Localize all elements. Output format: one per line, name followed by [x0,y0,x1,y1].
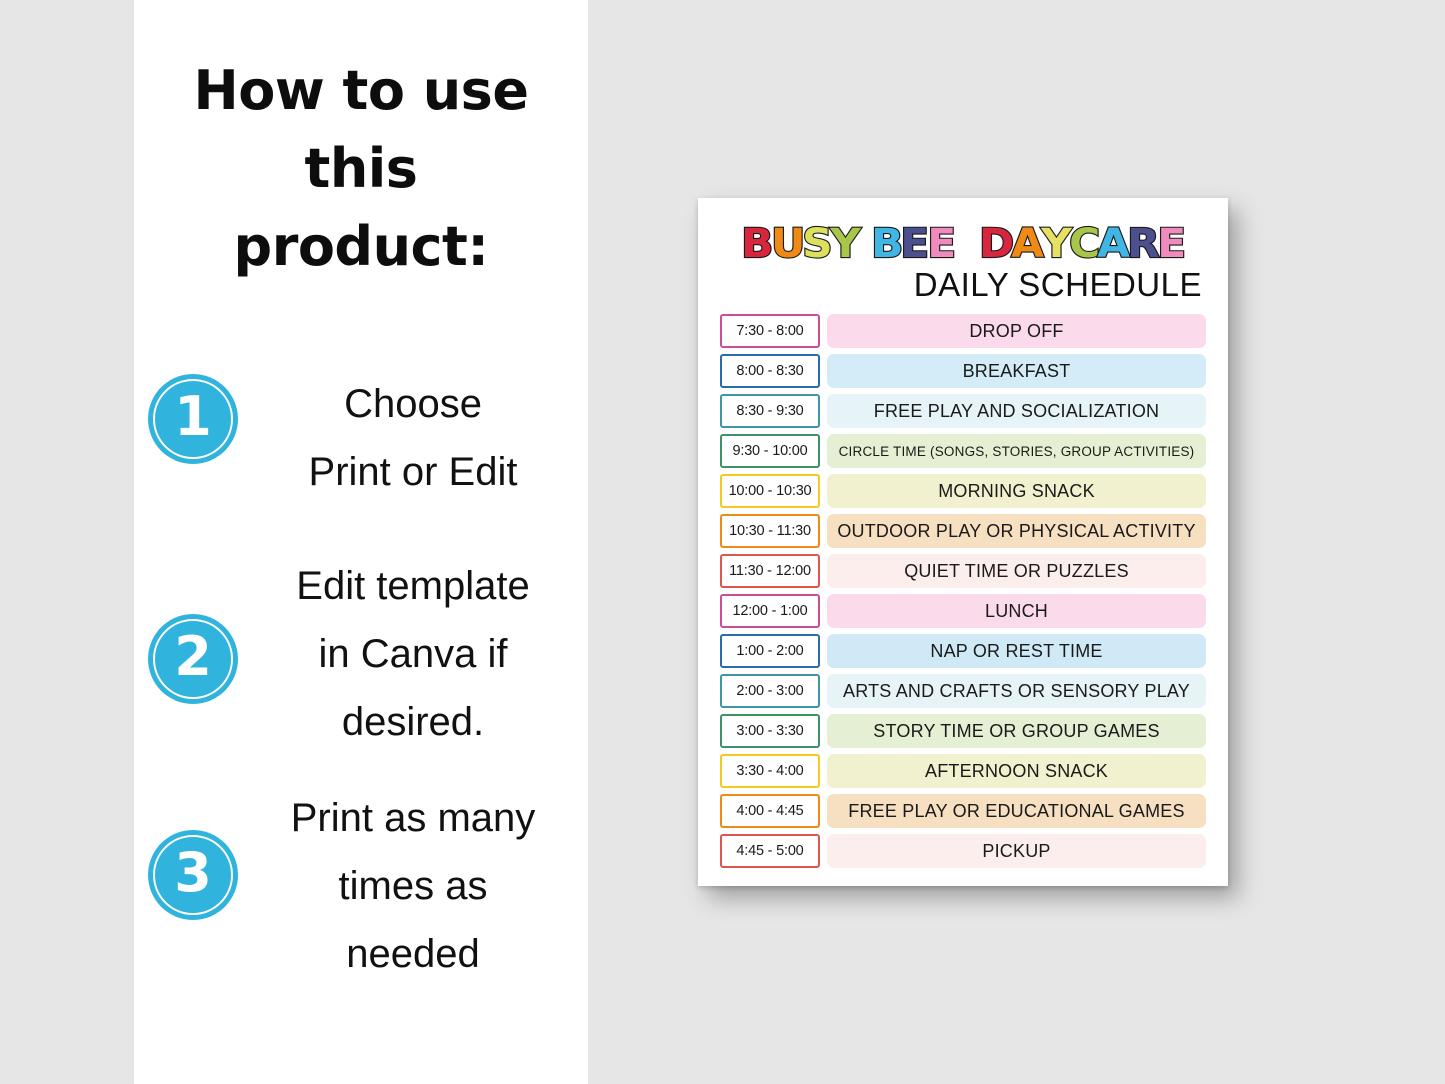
logo-word-daycare: DAYCARE [980,222,1185,266]
step-number-2: 2 [174,630,212,684]
schedule-time-cell: 2:00 - 3:00 [720,674,820,708]
logo-letter-word1-3: Y [830,222,860,266]
logo-word-busy: BUSY [742,222,859,266]
schedule-row: 11:30 - 12:00QUIET TIME OR PUZZLES [720,554,1206,588]
schedule-activity-cell: ARTS AND CRAFTS OR SENSORY PLAY [827,674,1206,708]
logo-letter-word3-1: A [1011,222,1043,266]
daily-schedule-printable-preview: BUSY BEE DAYCARE DAILY SCHEDULE 7:30 - 8… [698,198,1228,886]
schedule-activity-cell: MORNING SNACK [827,474,1206,508]
step-number-badge-3: 3 [148,830,238,920]
step-number-1: 1 [174,390,212,444]
schedule-time-cell: 11:30 - 12:00 [720,554,820,588]
logo-letter-word1-2: S [802,222,831,266]
logo-letter-word2-0: B [871,222,902,266]
schedule-activity-cell: DROP OFF [827,314,1206,348]
schedule-row: 3:00 - 3:30STORY TIME OR GROUP GAMES [720,714,1206,748]
schedule-row: 12:00 - 1:00LUNCH [720,594,1206,628]
schedule-table: 7:30 - 8:00DROP OFF8:00 - 8:30BREAKFAST8… [720,314,1206,868]
step-item-2: 2 Edit templatein Canva ifdesired. [134,552,588,756]
step-item-3: 3 Print as manytimes asneeded [134,784,588,988]
logo-letter-word2-2: E [927,222,955,266]
logo-letter-word2-1: E [900,222,928,266]
schedule-activity-cell: NAP OR REST TIME [827,634,1206,668]
schedule-row: 3:30 - 4:00AFTERNOON SNACK [720,754,1206,788]
how-to-use-panel: How to use this product: 1 ChoosePrint o… [134,0,588,1084]
schedule-activity-cell: CIRCLE TIME (SONGS, STORIES, GROUP ACTIV… [827,434,1206,468]
schedule-activity-cell: OUTDOOR PLAY OR PHYSICAL ACTIVITY [827,514,1206,548]
page-title: How to use this product: [134,52,588,286]
page-title-line-1: How to use [134,52,588,130]
schedule-time-cell: 3:30 - 4:00 [720,754,820,788]
schedule-activity-cell: LUNCH [827,594,1206,628]
step-text-3: Print as manytimes asneeded [252,784,588,988]
step-text-2: Edit templatein Canva ifdesired. [252,552,588,756]
schedule-row: 10:30 - 11:30OUTDOOR PLAY OR PHYSICAL AC… [720,514,1206,548]
logo-word-bee: BEE [872,222,954,266]
logo-subtitle: DAILY SCHEDULE [720,267,1206,303]
schedule-time-cell: 1:00 - 2:00 [720,634,820,668]
step-number-3: 3 [174,846,212,900]
step-text-1: ChoosePrint or Edit [252,370,588,506]
schedule-row: 9:30 - 10:00CIRCLE TIME (SONGS, STORIES,… [720,434,1206,468]
schedule-activity-cell: FREE PLAY OR EDUCATIONAL GAMES [827,794,1206,828]
schedule-time-cell: 8:00 - 8:30 [720,354,820,388]
schedule-activity-cell: AFTERNOON SNACK [827,754,1206,788]
page-title-line-2: this [134,130,588,208]
sheet-inner: BUSY BEE DAYCARE DAILY SCHEDULE 7:30 - 8… [698,198,1228,886]
logo-letter-word3-3: C [1069,222,1099,266]
schedule-activity-cell: PICKUP [827,834,1206,868]
schedule-time-cell: 10:30 - 11:30 [720,514,820,548]
logo-letter-word3-4: A [1098,222,1130,266]
schedule-activity-cell: QUIET TIME OR PUZZLES [827,554,1206,588]
logo-letter-word3-6: E [1157,222,1185,266]
schedule-time-cell: 9:30 - 10:00 [720,434,820,468]
schedule-row: 8:30 - 9:30FREE PLAY AND SOCIALIZATION [720,394,1206,428]
logo-letter-word1-1: U [771,222,804,266]
schedule-row: 1:00 - 2:00NAP OR REST TIME [720,634,1206,668]
schedule-time-cell: 8:30 - 9:30 [720,394,820,428]
schedule-activity-cell: STORY TIME OR GROUP GAMES [827,714,1206,748]
schedule-time-cell: 10:00 - 10:30 [720,474,820,508]
step-number-badge-2: 2 [148,614,238,704]
schedule-row: 4:00 - 4:45FREE PLAY OR EDUCATIONAL GAME… [720,794,1206,828]
step-badge-wrap-3: 3 [134,784,252,920]
schedule-row: 2:00 - 3:00ARTS AND CRAFTS OR SENSORY PL… [720,674,1206,708]
page-title-line-3: product: [134,208,588,286]
schedule-activity-cell: BREAKFAST [827,354,1206,388]
schedule-time-cell: 12:00 - 1:00 [720,594,820,628]
steps-list: 1 ChoosePrint or Edit 2 Edit templatein … [134,370,588,1020]
schedule-activity-cell: FREE PLAY AND SOCIALIZATION [827,394,1206,428]
logo-letter-word3-0: D [979,222,1013,266]
step-badge-wrap-2: 2 [134,552,252,704]
schedule-time-cell: 4:00 - 4:45 [720,794,820,828]
logo-letter-word3-5: R [1127,222,1159,266]
schedule-row: 4:45 - 5:00PICKUP [720,834,1206,868]
schedule-time-cell: 4:45 - 5:00 [720,834,820,868]
step-item-1: 1 ChoosePrint or Edit [134,370,588,506]
schedule-time-cell: 3:00 - 3:30 [720,714,820,748]
step-badge-wrap-1: 1 [134,370,252,464]
schedule-row: 7:30 - 8:00DROP OFF [720,314,1206,348]
logo-letter-word1-0: B [741,222,772,266]
logo-letter-word3-2: Y [1041,222,1071,266]
schedule-row: 10:00 - 10:30MORNING SNACK [720,474,1206,508]
schedule-time-cell: 7:30 - 8:00 [720,314,820,348]
daycare-logo: BUSY BEE DAYCARE [720,222,1206,266]
schedule-row: 8:00 - 8:30BREAKFAST [720,354,1206,388]
step-number-badge-1: 1 [148,374,238,464]
